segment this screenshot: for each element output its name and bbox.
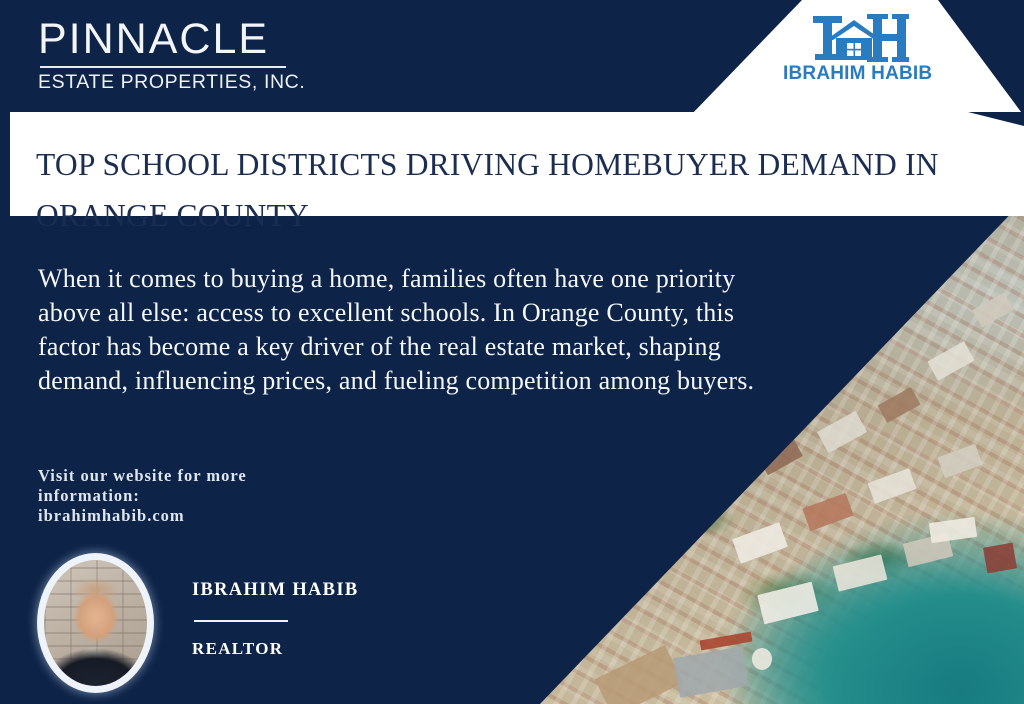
building-block xyxy=(752,648,772,670)
pinnacle-logo-rule xyxy=(40,66,286,68)
avatar-image xyxy=(44,560,147,686)
pinnacle-logo[interactable]: PINNACLE ESTATE PROPERTIES, INC. xyxy=(38,18,288,92)
building-block xyxy=(983,543,1017,574)
house-monogram-icon xyxy=(805,10,909,62)
pinnacle-logo-sub: ESTATE PROPERTIES, INC. xyxy=(38,73,288,93)
marketing-flyer: PINNACLE ESTATE PROPERTIES, INC. xyxy=(0,0,1024,704)
agent-name: IBRAHIM HABIB xyxy=(192,581,432,600)
ibrahim-habib-logo[interactable]: IBRAHIM HABIB xyxy=(783,10,931,83)
website-cta-line2: information: xyxy=(38,486,368,506)
website-cta[interactable]: Visit our website for more information: … xyxy=(38,466,368,526)
page-title: TOP SCHOOL DISTRICTS DRIVING HOMEBUYER D… xyxy=(36,139,1011,241)
pinnacle-logo-main: PINNACLE xyxy=(38,18,288,61)
avatar xyxy=(37,553,154,693)
agent-info: IBRAHIM HABIB REALTOR xyxy=(192,581,432,657)
ibrahim-habib-logo-text: IBRAHIM HABIB xyxy=(783,64,931,83)
body-paragraph: When it comes to buying a home, families… xyxy=(38,262,798,398)
website-cta-line1: Visit our website for more xyxy=(38,466,368,486)
website-url[interactable]: ibrahimhabib.com xyxy=(38,506,368,526)
agent-divider xyxy=(194,620,288,622)
agent-role: REALTOR xyxy=(192,640,432,657)
